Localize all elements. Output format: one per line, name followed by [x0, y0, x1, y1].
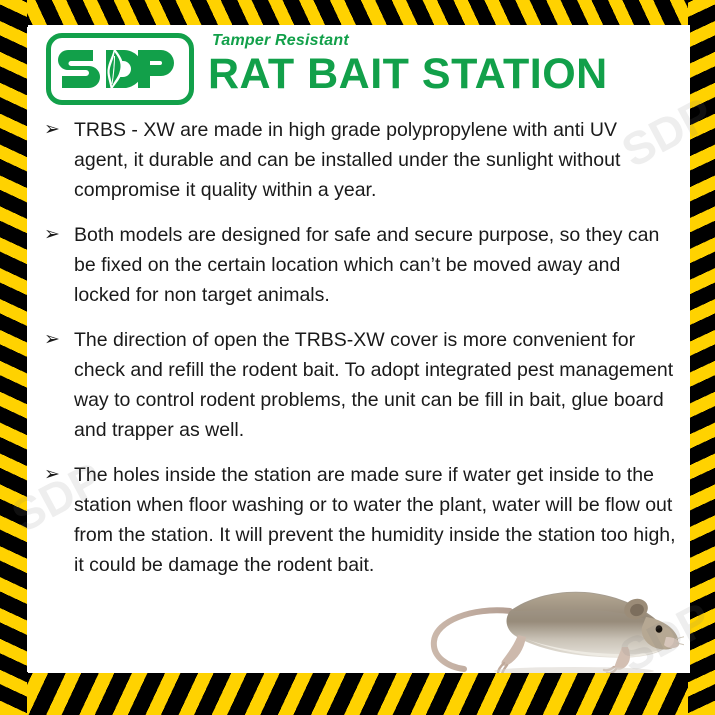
arrow-bullet-icon: ➢ — [38, 325, 74, 355]
page-title: RAT BAIT STATION — [208, 52, 608, 97]
rat-illustration — [414, 581, 684, 673]
bullet-list: ➢ TRBS - XW are made in high grade polyp… — [28, 115, 690, 595]
title-block: Tamper Resistant RAT BAIT STATION — [208, 29, 608, 97]
list-item: ➢ TRBS - XW are made in high grade polyp… — [38, 115, 676, 205]
sdp-logo — [46, 33, 194, 105]
eyebrow-text: Tamper Resistant — [212, 33, 608, 49]
hazard-border-left — [0, 0, 27, 715]
poster-header: Tamper Resistant RAT BAIT STATION — [28, 25, 690, 113]
list-item-text: The holes inside the station are made su… — [74, 460, 676, 580]
hazard-border-bottom — [0, 672, 715, 715]
list-item: ➢ Both models are designed for safe and … — [38, 220, 676, 310]
content-panel: Tamper Resistant RAT BAIT STATION ➢ TRBS… — [28, 25, 690, 673]
list-item: ➢ The holes inside the station are made … — [38, 460, 676, 580]
rat-photo — [414, 581, 684, 673]
hazard-border-top — [0, 0, 715, 27]
arrow-bullet-icon: ➢ — [38, 115, 74, 145]
list-item-text: TRBS - XW are made in high grade polypro… — [74, 115, 676, 205]
list-item: ➢ The direction of open the TRBS-XW cove… — [38, 325, 676, 445]
list-item-text: The direction of open the TRBS-XW cover … — [74, 325, 676, 445]
hazard-border-right — [688, 0, 715, 715]
list-item-text: Both models are designed for safe and se… — [74, 220, 676, 310]
poster-root: Tamper Resistant RAT BAIT STATION ➢ TRBS… — [0, 0, 715, 715]
arrow-bullet-icon: ➢ — [38, 220, 74, 250]
sdp-logo-icon — [58, 44, 182, 94]
arrow-bullet-icon: ➢ — [38, 460, 74, 490]
